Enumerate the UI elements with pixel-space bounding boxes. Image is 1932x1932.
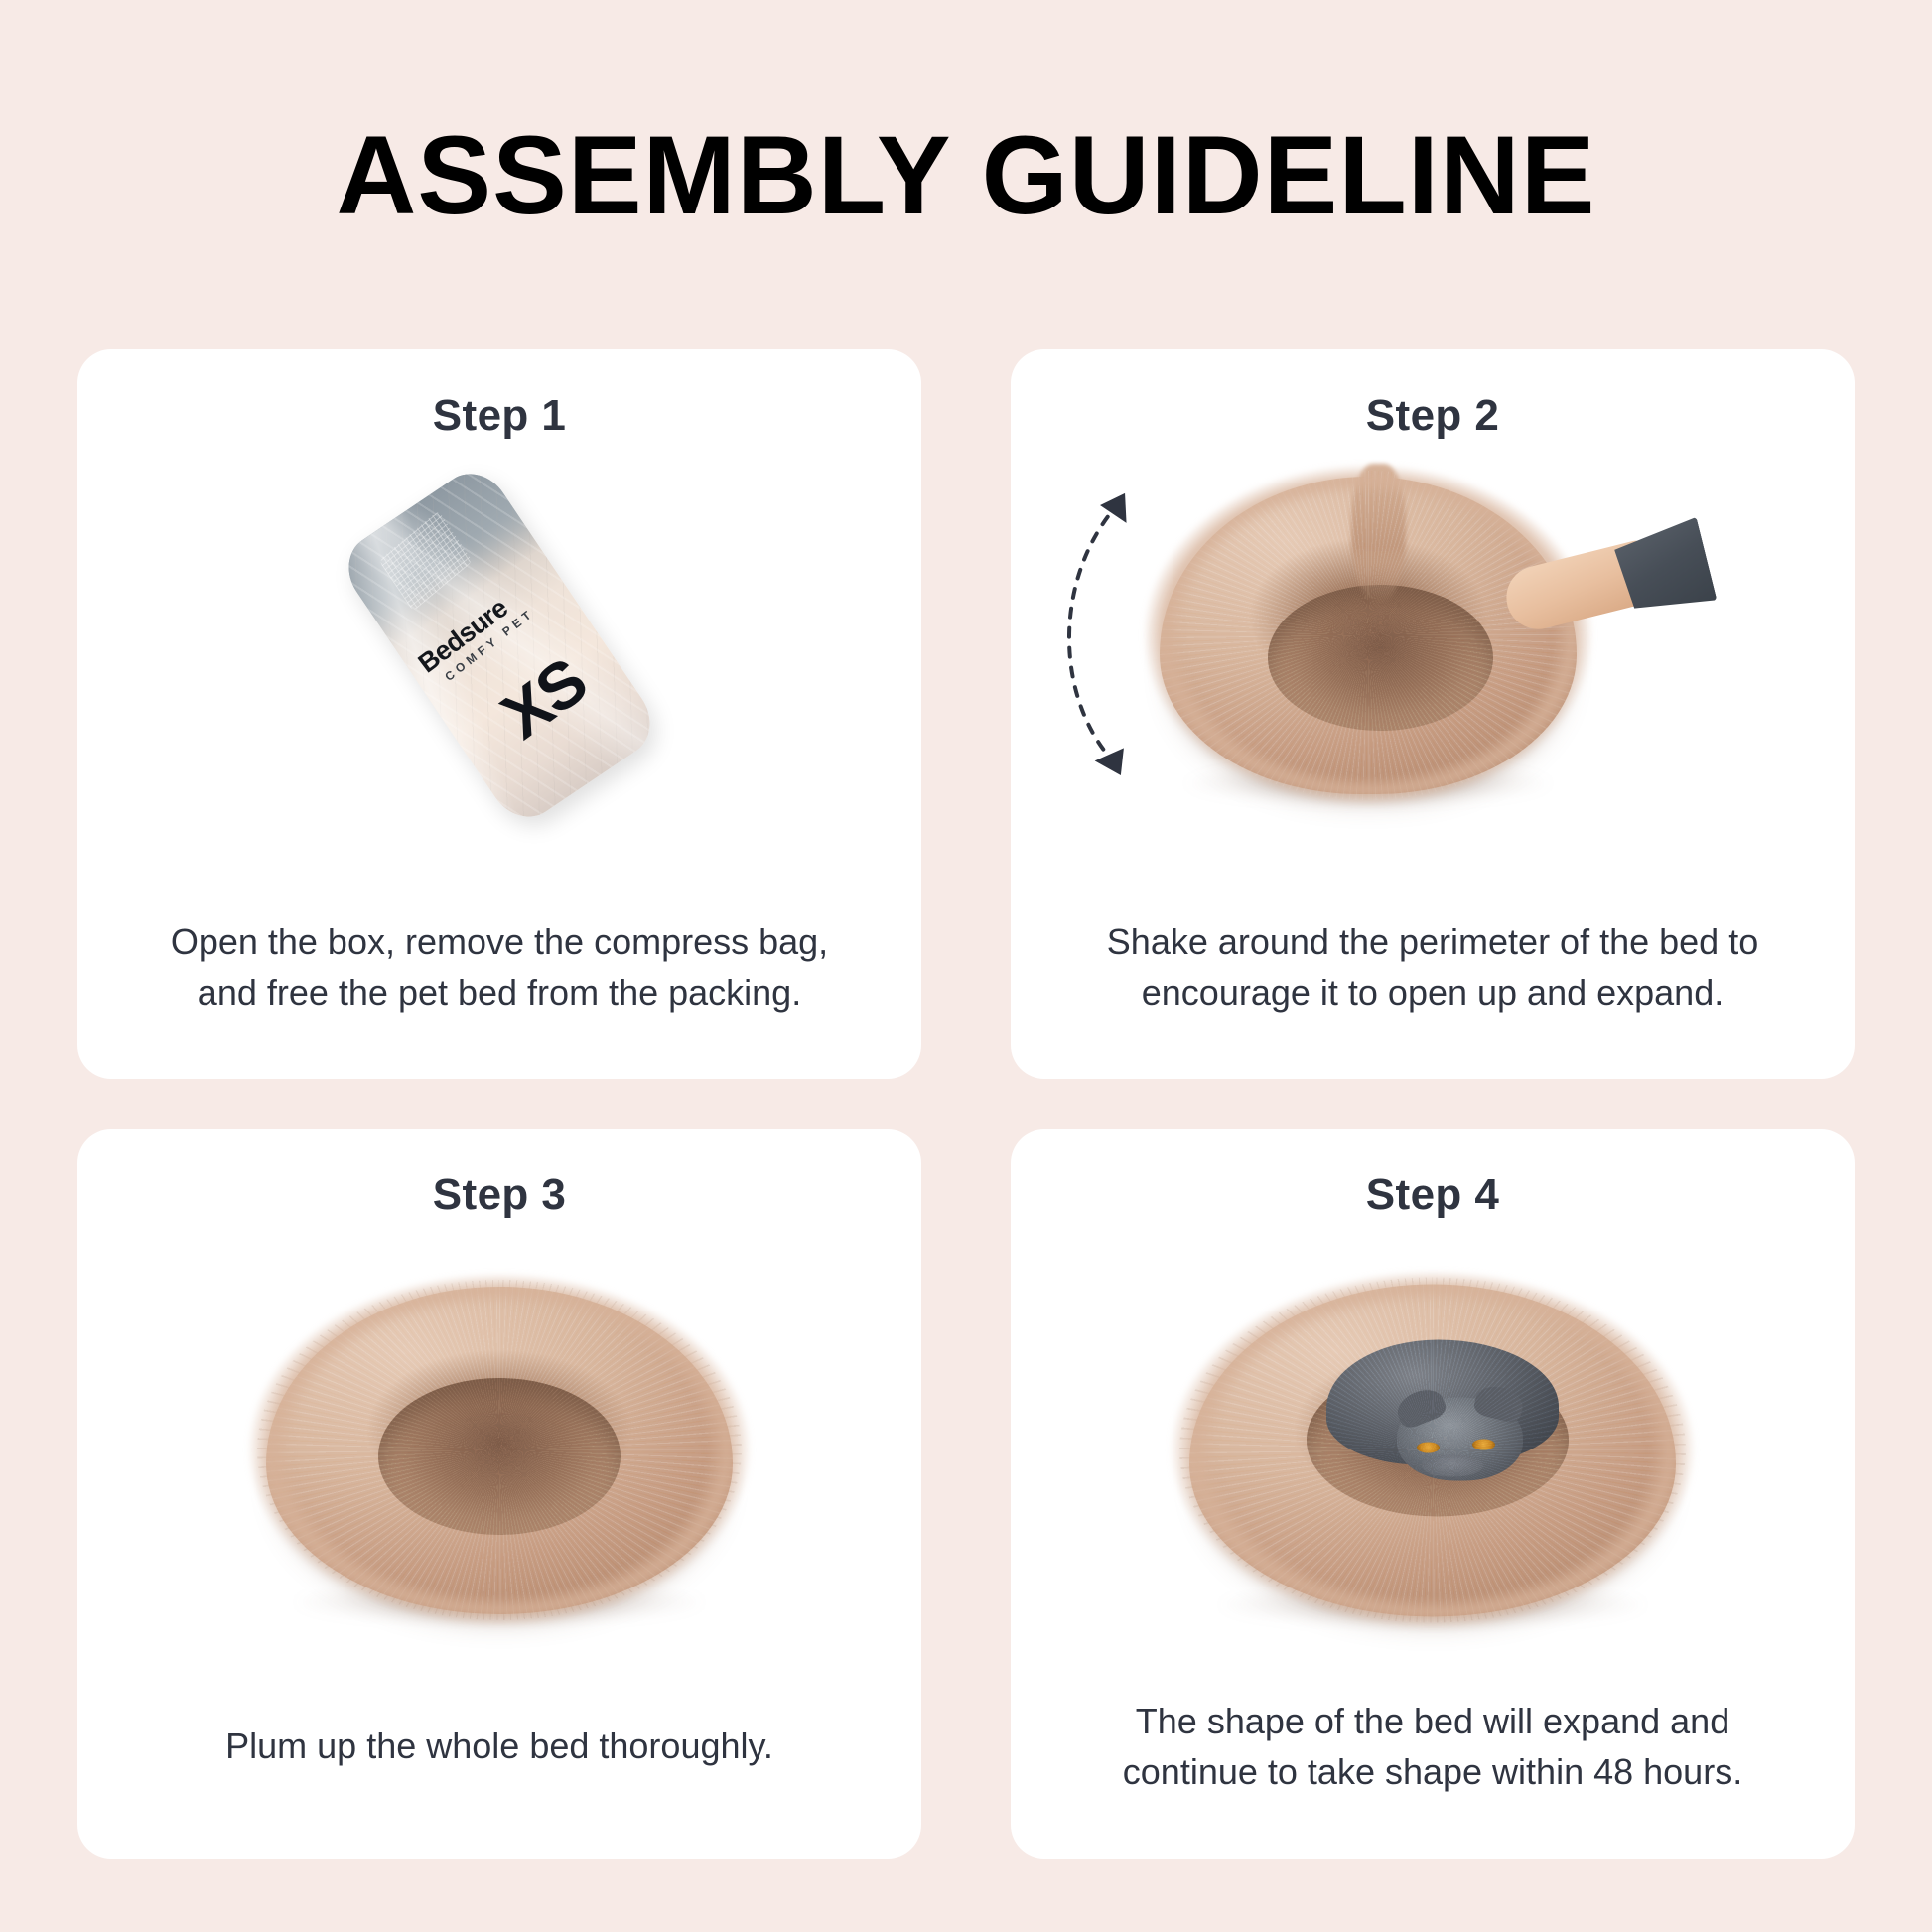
step-card-3: Step 3 Plum up the whole bed thoroughly. — [77, 1129, 921, 1859]
step-card-1: Step 1 Bedsure COMFY PET XS Open the box… — [77, 349, 921, 1079]
pet-bed-with-cat — [1189, 1284, 1676, 1616]
assembly-guideline-page: ASSEMBLY GUIDELINE Step 1 Bedsure COMFY … — [0, 0, 1932, 1932]
step-2-illustration — [1011, 449, 1855, 876]
compressed-bag-icon: Bedsure COMFY PET XS — [335, 460, 664, 830]
bed-fur-halo — [247, 1273, 752, 1626]
page-title: ASSEMBLY GUIDELINE — [0, 117, 1932, 234]
step-3-title: Step 3 — [77, 1171, 921, 1220]
step-card-4: Step 4 — [1011, 1129, 1855, 1859]
step-3-illustration — [77, 1228, 921, 1655]
step-4-illustration — [1011, 1228, 1855, 1655]
step-2-title: Step 2 — [1011, 391, 1855, 441]
step-1-illustration: Bedsure COMFY PET XS — [77, 449, 921, 876]
bed-fur-halo — [1170, 1271, 1695, 1630]
step-1-caption: Open the box, remove the compress bag, a… — [137, 916, 862, 1018]
step-4-title: Step 4 — [1011, 1171, 1855, 1220]
pet-bed-fluffed — [266, 1287, 733, 1614]
step-3-caption: Plum up the whole bed thoroughly. — [137, 1721, 862, 1771]
steps-grid: Step 1 Bedsure COMFY PET XS Open the box… — [77, 349, 1855, 1859]
step-2-caption: Shake around the perimeter of the bed to… — [1070, 916, 1795, 1018]
step-card-2: Step 2 — [1011, 349, 1855, 1079]
step-4-caption: The shape of the bed will expand and con… — [1070, 1696, 1795, 1797]
step-1-title: Step 1 — [77, 391, 921, 441]
